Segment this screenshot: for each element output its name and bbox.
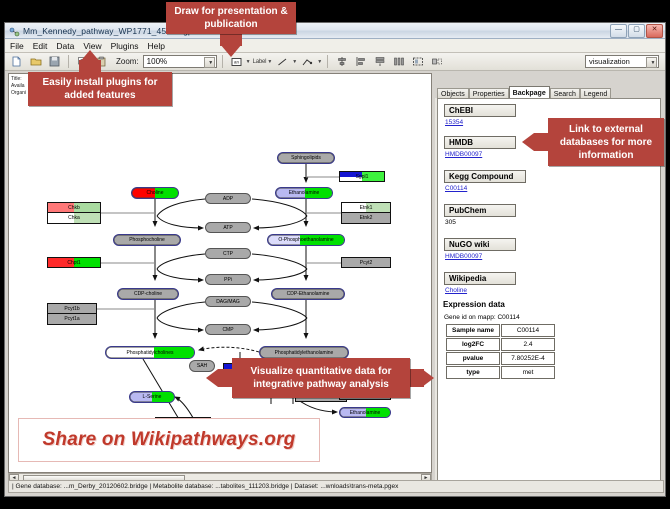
cell-value: 2.4: [501, 338, 555, 351]
node-label: CDP-Ethanolamine: [287, 291, 330, 297]
node-etnk1[interactable]: Etnk1: [341, 202, 391, 213]
menu-bar: File Edit Data View Plugins Help: [5, 39, 665, 53]
node-dag-mag[interactable]: DAG/MAG: [205, 296, 251, 307]
node-cmp[interactable]: CMP: [205, 324, 251, 335]
node-label: O-Phosphoethanolamine: [268, 235, 344, 245]
node-label: Chkb: [48, 203, 100, 212]
backpage-header-chebi: ChEBI: [444, 104, 516, 117]
node-label: Sgpl1: [340, 172, 384, 181]
node-chka[interactable]: Chka: [47, 213, 101, 224]
meta-organism: Organi: [11, 90, 26, 97]
label-tool-text: Label: [253, 59, 267, 65]
chevron-down-icon-interaction[interactable]: ▼: [317, 59, 322, 65]
node-label: Choline: [132, 188, 178, 198]
menu-help[interactable]: Help: [147, 41, 166, 51]
pathway-canvas[interactable]: Title: Availa Organi: [8, 73, 432, 473]
cell-key: log2FC: [446, 338, 500, 351]
node-label: Chpt1: [48, 258, 100, 267]
align-left-icon[interactable]: [352, 53, 369, 70]
new-file-icon[interactable]: [8, 53, 25, 70]
title-bar: Mm_Kennedy_pathway_WP1771_45176.gpml — ▢…: [5, 23, 665, 39]
node-label: Pcyt1a: [64, 316, 79, 322]
status-text: | Gene database: ...m_Derby_20120602.bri…: [12, 483, 398, 490]
node-phosphatidylcholines[interactable]: Phosphatidylcholines: [105, 346, 195, 359]
node-adp[interactable]: ADP: [205, 193, 251, 204]
minimize-button[interactable]: —: [610, 24, 627, 38]
node-label: Ethanolamine: [276, 188, 332, 198]
share-callout: Share on Wikipathways.org: [18, 418, 320, 462]
cell-value: met: [501, 366, 555, 379]
chevron-down-icon[interactable]: ▼: [204, 57, 215, 68]
pathway-meta: Title: Availa Organi: [11, 76, 26, 97]
callout-visualize: Visualize quantitative data for integrat…: [232, 358, 410, 398]
backpage-header-hmdb: HMDB: [444, 136, 516, 149]
node-o-phosphoethanolamine[interactable]: O-Phosphoethanolamine: [267, 234, 345, 246]
node-etnk2[interactable]: Etnk2: [341, 213, 391, 224]
node-atp[interactable]: ATP: [205, 222, 251, 233]
node-label: CDP-choline: [134, 291, 162, 297]
backpage-header-pubchem: PubChem: [444, 204, 516, 217]
node-label: ADP: [223, 196, 233, 202]
table-row: log2FC2.4: [446, 338, 555, 351]
node-label: Pcyt1b: [64, 306, 79, 312]
expression-data-title: Expression data: [443, 300, 660, 309]
node-l-serine-left[interactable]: L-Serine: [129, 391, 175, 403]
zoom-combo[interactable]: 100% ▼: [143, 55, 217, 68]
menu-data[interactable]: Data: [55, 41, 75, 51]
ungroup-icon[interactable]: [428, 53, 445, 70]
node-cdp-ethanolamine[interactable]: CDP-Ethanolamine: [271, 288, 345, 300]
table-row: typemet: [446, 366, 555, 379]
backpage-link-nugo[interactable]: HMDB00097: [445, 253, 660, 260]
callout-links-arrow: [522, 133, 534, 151]
group-icon[interactable]: [409, 53, 426, 70]
toolbar-separator-3: [327, 55, 328, 68]
zoom-value: 100%: [144, 57, 167, 66]
menu-plugins[interactable]: Plugins: [110, 41, 140, 51]
node-ppi[interactable]: PPi: [205, 274, 251, 285]
node-sgpl1[interactable]: Sgpl1: [339, 171, 385, 182]
cell-key: type: [446, 366, 500, 379]
open-folder-icon[interactable]: [27, 53, 44, 70]
node-chkb[interactable]: Chkb: [47, 202, 101, 213]
label-tool[interactable]: Label ▼: [253, 59, 273, 65]
node-ethanolamine-bottom[interactable]: Ethanolamine: [339, 407, 391, 418]
tool-bar: Zoom: 100% ▼ an ▼ Label ▼ ▼: [5, 53, 665, 71]
backpage-header-kegg: Kegg Compound: [444, 170, 526, 183]
node-label: Chka: [48, 213, 100, 223]
callout-draw: Draw for presentation & publication: [166, 2, 296, 34]
chevron-down-icon-datanode[interactable]: ▼: [246, 59, 251, 65]
callout-visualize-arrow-left: [206, 369, 218, 387]
svg-text:an: an: [234, 59, 239, 64]
maximize-button[interactable]: ▢: [628, 24, 645, 38]
cell-key: Sample name: [446, 324, 500, 337]
interaction-tool[interactable]: ▼: [299, 53, 322, 70]
node-label: Phosphocholine: [129, 237, 165, 243]
node-label: Sphingolipids: [291, 155, 321, 161]
node-label: Etnk2: [360, 215, 373, 221]
window-buttons: — ▢ ✕: [610, 24, 665, 38]
node-label: CTP: [223, 251, 233, 257]
menu-edit[interactable]: Edit: [32, 41, 49, 51]
stack-icon[interactable]: [371, 53, 388, 70]
screenshot-root: Mm_Kennedy_pathway_WP1771_45176.gpml — ▢…: [0, 0, 670, 509]
node-label: CMP: [222, 327, 233, 333]
callout-draw-arrow: [220, 44, 242, 57]
chevron-down-icon-label[interactable]: ▼: [267, 59, 272, 65]
node-ctp[interactable]: CTP: [205, 248, 251, 259]
status-bar: | Gene database: ...m_Derby_20120602.bri…: [8, 480, 664, 493]
node-label: Etnk1: [342, 203, 390, 212]
node-label: Pcyt2: [360, 260, 373, 266]
callout-plugins-arrow: [79, 50, 101, 63]
callout-plugins: Easily install plugins for added feature…: [28, 72, 172, 106]
interaction-tool-icon[interactable]: [299, 53, 316, 70]
node-label: Ethanolamine: [340, 408, 390, 417]
meta-availability: Availa: [11, 83, 26, 90]
node-pcyt1a[interactable]: Pcyt1a: [47, 314, 97, 325]
callout-visualize-arrow-right: [422, 369, 434, 387]
node-label: PPi: [224, 277, 232, 283]
toolbar-separator: [68, 55, 69, 68]
node-ethanolamine-top[interactable]: Ethanolamine: [275, 187, 333, 199]
close-button[interactable]: ✕: [646, 24, 663, 38]
node-pcyt1b[interactable]: Pcyt1b: [47, 303, 97, 314]
line-tool[interactable]: ▼: [274, 53, 297, 70]
table-row: pvalue7.80252E-4: [446, 352, 555, 365]
pathvisio-icon: [9, 25, 20, 36]
node-sphingolipids[interactable]: Sphingolipids: [277, 152, 335, 164]
backpage-header-wikipedia: Wikipedia: [444, 272, 516, 285]
node-label: L-Serine: [130, 392, 174, 402]
line-tool-icon[interactable]: [274, 53, 291, 70]
chevron-down-icon-visualization[interactable]: ▼: [646, 57, 657, 68]
cell-value: 7.80252E-4: [501, 352, 555, 365]
backpage-value-pubchem: 305: [445, 219, 660, 226]
distribute-icon[interactable]: [390, 53, 407, 70]
node-pcyt2[interactable]: Pcyt2: [341, 257, 391, 268]
save-disk-icon[interactable]: [46, 53, 63, 70]
zoom-label: Zoom:: [116, 57, 139, 66]
node-label: Phosphatidylethanolamine: [275, 350, 334, 356]
backpage-header-nugo: NuGO wiki: [444, 238, 516, 251]
node-label: ATP: [223, 225, 232, 231]
share-text: Share on Wikipathways.org: [43, 429, 296, 451]
node-label: DAG/MAG: [216, 299, 240, 305]
chevron-down-icon-line[interactable]: ▼: [292, 59, 297, 65]
node-label: Phosphatidylcholines: [106, 347, 194, 358]
table-row: Sample nameC00114: [446, 324, 555, 337]
node-chpt1[interactable]: Chpt1: [47, 257, 101, 268]
cell-value: C00114: [501, 324, 555, 337]
callout-links: Link to external databases for more info…: [548, 118, 664, 166]
node-phosphocholine[interactable]: Phosphocholine: [113, 234, 181, 246]
cell-key: pvalue: [446, 352, 500, 365]
menu-file[interactable]: File: [9, 41, 25, 51]
visualization-combo-value: visualization: [586, 57, 630, 66]
backpage-link-kegg[interactable]: C00114: [445, 185, 660, 192]
backpage-link-wikipedia[interactable]: Choline: [445, 287, 660, 294]
expression-table: Sample nameC00114 log2FC2.4 pvalue7.8025…: [445, 323, 556, 380]
node-choline-top[interactable]: Choline: [131, 187, 179, 199]
align-center-icon[interactable]: [333, 53, 350, 70]
menu-view[interactable]: View: [82, 41, 102, 51]
gene-id-line: Gene id on mapp: C00114: [444, 314, 660, 321]
visualization-combo[interactable]: visualization ▼: [585, 55, 659, 68]
meta-title: Title:: [11, 76, 26, 83]
node-cdp-choline[interactable]: CDP-choline: [117, 288, 179, 300]
